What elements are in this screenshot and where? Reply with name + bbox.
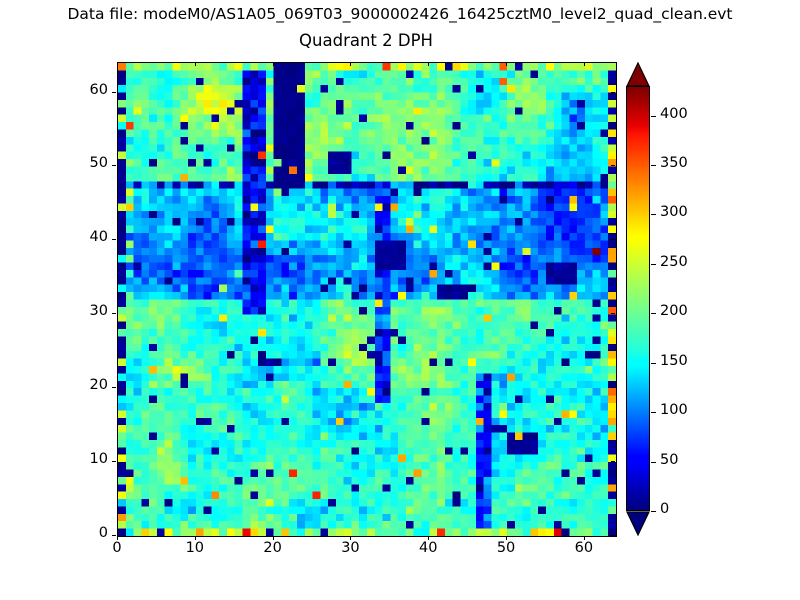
colorbar-over-arrow (626, 62, 650, 87)
x-tick-label: 60 (564, 540, 604, 556)
y-tick-mark-inner (611, 92, 615, 93)
x-tick-label: 30 (330, 540, 370, 556)
x-tick-label: 20 (253, 540, 293, 556)
y-tick-mark-inner (611, 313, 615, 314)
x-tick-label: 40 (408, 540, 448, 556)
colorbar-tick-mark (651, 214, 656, 215)
y-tick-mark (112, 239, 116, 240)
colorbar-tick-mark (651, 363, 656, 364)
colorbar-tick-label: 300 (660, 204, 688, 220)
y-tick-label: 40 (68, 229, 108, 245)
colorbar-tick-label: 200 (660, 303, 688, 319)
x-tick-mark-inner (584, 62, 585, 66)
heatmap-image (118, 63, 616, 536)
colorbar: 050100150200250300350400 (626, 62, 652, 535)
colorbar-tick-label: 0 (660, 501, 669, 517)
colorbar-gradient (626, 86, 650, 511)
colorbar-tick-mark (651, 412, 656, 413)
colorbar-tick-label: 400 (660, 106, 688, 122)
y-tick-label: 50 (68, 155, 108, 171)
y-tick-mark-inner (611, 239, 615, 240)
y-tick-mark (112, 461, 116, 462)
heatmap-axes (117, 62, 617, 537)
y-tick-mark (112, 535, 116, 536)
colorbar-tick-mark (651, 264, 656, 265)
y-tick-mark-inner (611, 387, 615, 388)
x-tick-label: 50 (486, 540, 526, 556)
x-tick-mark-inner (195, 62, 196, 66)
x-tick-mark-inner (506, 62, 507, 66)
x-tick-mark-inner (428, 62, 429, 66)
y-tick-mark (112, 387, 116, 388)
y-tick-mark (112, 165, 116, 166)
figure-canvas: Data file: modeM0/AS1A05_069T03_90000024… (0, 0, 800, 600)
colorbar-tick-label: 50 (660, 452, 678, 468)
y-tick-mark-inner (611, 165, 615, 166)
x-tick-label: 10 (175, 540, 215, 556)
y-tick-label: 0 (68, 525, 108, 541)
y-tick-label: 20 (68, 377, 108, 393)
colorbar-tick-label: 150 (660, 353, 688, 369)
x-tick-mark-inner (273, 62, 274, 66)
y-tick-mark-inner (611, 461, 615, 462)
colorbar-tick-label: 250 (660, 254, 688, 270)
colorbar-tick-mark (651, 165, 656, 166)
figure-suptitle: Data file: modeM0/AS1A05_069T03_90000024… (0, 5, 800, 23)
axes-title: Quadrant 2 DPH (117, 31, 615, 50)
colorbar-tick-mark (651, 511, 656, 512)
colorbar-under-arrow (626, 511, 650, 536)
y-tick-label: 10 (68, 451, 108, 467)
colorbar-tick-mark (651, 462, 656, 463)
x-tick-mark-inner (117, 62, 118, 66)
colorbar-tick-label: 350 (660, 155, 688, 171)
y-tick-label: 30 (68, 303, 108, 319)
colorbar-tick-mark (651, 116, 656, 117)
x-tick-label: 0 (97, 540, 137, 556)
y-tick-mark-inner (611, 535, 615, 536)
y-tick-mark (112, 313, 116, 314)
colorbar-tick-mark (651, 313, 656, 314)
colorbar-tick-label: 100 (660, 402, 688, 418)
y-tick-mark (112, 92, 116, 93)
x-tick-mark-inner (350, 62, 351, 66)
y-tick-label: 60 (68, 82, 108, 98)
